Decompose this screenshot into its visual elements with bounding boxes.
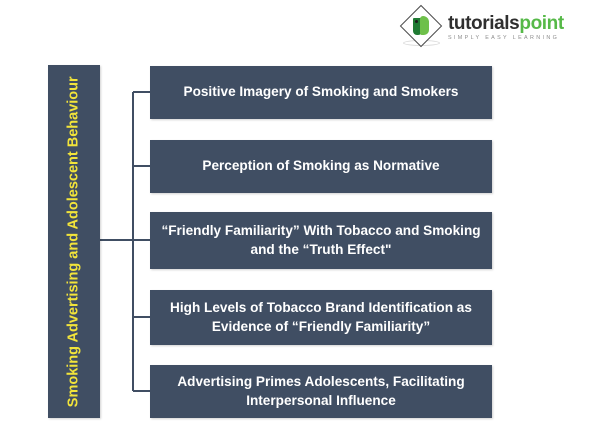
node-friendly-familiarity-truth-effect: “Friendly Familiarity” With Tobacco and … (150, 212, 492, 269)
tutorialspoint-logo: tutorialspoint SIMPLY EASY LEARNING (400, 6, 590, 50)
node-perception-normative: Perception of Smoking as Normative (150, 140, 492, 193)
logo-wordmark: tutorialspoint (448, 14, 564, 33)
logo-text-block: tutorialspoint SIMPLY EASY LEARNING (448, 14, 564, 41)
logo-word-tutorials: tutorials (448, 13, 519, 34)
diamond-leaf-icon (400, 7, 444, 49)
node-advertising-primes-adolescents: Advertising Primes Adolescents, Facilita… (150, 365, 492, 418)
logo-leaf-light (420, 16, 429, 35)
diagram-canvas: tutorialspoint SIMPLY EASY LEARNING Smok… (0, 0, 600, 430)
node-brand-identification: High Levels of Tobacco Brand Identificat… (150, 290, 492, 345)
node-label: Positive Imagery of Smoking and Smokers (184, 83, 459, 101)
logo-tagline: SIMPLY EASY LEARNING (448, 36, 564, 41)
node-label: Perception of Smoking as Normative (202, 157, 439, 175)
node-label: High Levels of Tobacco Brand Identificat… (158, 299, 484, 336)
logo-word-point: point (519, 13, 563, 34)
root-node-label: Smoking Advertising and Adolescent Behav… (64, 76, 84, 407)
root-node-smoking-advertising: Smoking Advertising and Adolescent Behav… (48, 65, 100, 418)
node-label: “Friendly Familiarity” With Tobacco and … (158, 222, 484, 259)
node-label: Advertising Primes Adolescents, Facilita… (158, 373, 484, 410)
node-positive-imagery: Positive Imagery of Smoking and Smokers (150, 66, 492, 119)
logo-dot (415, 20, 418, 23)
